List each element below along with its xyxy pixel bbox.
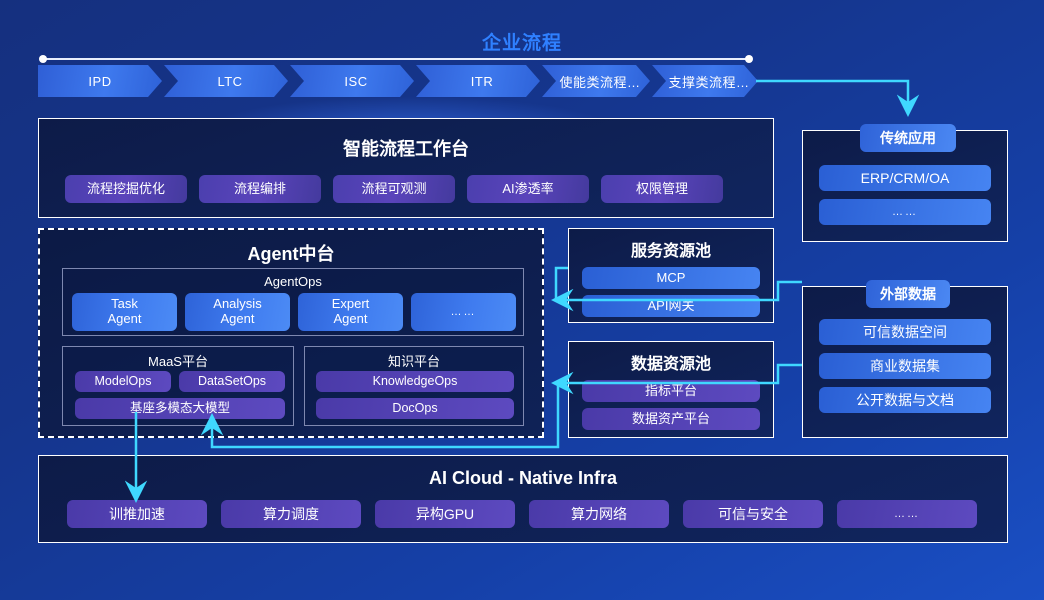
external-data-item[interactable]: 公开数据与文档	[819, 387, 991, 413]
data-pool-title: 数据资源池	[569, 350, 773, 374]
knowledge-row-1: KnowledgeOps	[316, 371, 514, 392]
workbench-item[interactable]: 流程挖掘优化	[65, 175, 187, 203]
rail-dot-left	[39, 55, 47, 63]
traditional-app-item-label: ERP/CRM/OA	[861, 170, 950, 186]
maas-item[interactable]: DataSetOps	[179, 371, 285, 392]
traditional-app-item[interactable]: ERP/CRM/OA	[819, 165, 991, 191]
data-pool-item-label: 指标平台	[645, 384, 697, 399]
infra-item-label: 异构GPU	[416, 506, 474, 522]
service-pool-title: 服务资源池	[569, 237, 773, 261]
external-data-item-label: 商业数据集	[870, 358, 940, 374]
knowledge-title: 知识平台	[305, 351, 523, 370]
maas-title: MaaS平台	[63, 351, 293, 370]
workbench-item[interactable]: AI渗透率	[467, 175, 589, 203]
diagram-canvas: 企业流程 IPD LTC ISC ITR 使能类流程… 支撑类流程… 智能流程工…	[0, 0, 1044, 600]
agentops-title: AgentOps	[63, 274, 523, 289]
infra-title: AI Cloud - Native Infra	[39, 468, 1007, 489]
ai-cloud-native-infra-panel: AI Cloud - Native Infra 训推加速 算力调度 异构GPU …	[38, 455, 1008, 543]
infra-items: 训推加速 算力调度 异构GPU 算力网络 可信与安全 ……	[67, 500, 977, 528]
knowledge-item[interactable]: KnowledgeOps	[316, 371, 514, 392]
data-pool-item-label: 数据资产平台	[632, 412, 710, 427]
wire-service-pool-stub	[556, 268, 568, 300]
process-step[interactable]: ITR	[416, 65, 540, 97]
agent-card-more[interactable]: ……	[411, 293, 516, 331]
workbench-items: 流程挖掘优化 流程编排 流程可观测 AI渗透率 权限管理	[65, 175, 723, 203]
external-data-label: 外部数据	[866, 280, 950, 308]
process-step-label: ISC	[344, 74, 367, 89]
infra-item-label: 算力调度	[263, 506, 319, 522]
knowledge-row-2: DocOps	[316, 398, 514, 419]
infra-item-more-label: ……	[894, 508, 920, 521]
workbench-item-label: 流程挖掘优化	[87, 182, 165, 197]
service-pool-item[interactable]: API网关	[582, 295, 760, 317]
external-data-item[interactable]: 可信数据空间	[819, 319, 991, 345]
traditional-apps-label: 传统应用	[860, 124, 956, 152]
agent-card[interactable]: Analysis Agent	[185, 293, 290, 331]
infra-item[interactable]: 算力网络	[529, 500, 669, 528]
service-pool-item-label: MCP	[657, 271, 686, 286]
knowledge-platform-group: 知识平台 KnowledgeOps DocOps	[304, 346, 524, 426]
maas-item-label: DataSetOps	[198, 374, 266, 388]
intelligent-process-workbench-panel: 智能流程工作台 流程挖掘优化 流程编排 流程可观测 AI渗透率 权限管理	[38, 118, 774, 218]
external-data-item-label: 可信数据空间	[863, 324, 947, 340]
maas-row-2: 基座多模态大模型	[75, 398, 285, 419]
infra-item[interactable]: 训推加速	[67, 500, 207, 528]
data-resource-pool-panel: 数据资源池 指标平台 数据资产平台	[568, 341, 774, 438]
infra-item-label: 可信与安全	[718, 506, 788, 522]
agent-card-label: Expert Agent	[332, 297, 370, 327]
workbench-item-label: AI渗透率	[502, 182, 553, 197]
infra-item[interactable]: 异构GPU	[375, 500, 515, 528]
process-step[interactable]: IPD	[38, 65, 162, 97]
traditional-app-item-more[interactable]: ……	[819, 199, 991, 225]
page-title: 企业流程	[0, 28, 1044, 55]
maas-item-label: 基座多模态大模型	[130, 401, 230, 415]
agent-card-label: Task Agent	[108, 297, 142, 327]
infra-item-more[interactable]: ……	[837, 500, 977, 528]
workbench-item-label: 流程可观测	[361, 182, 426, 197]
knowledge-item-label: KnowledgeOps	[373, 374, 458, 388]
agent-platform-panel: Agent中台 AgentOps Task Agent Analysis Age…	[38, 228, 544, 438]
data-pool-item[interactable]: 指标平台	[582, 380, 760, 402]
process-step[interactable]: LTC	[164, 65, 288, 97]
external-data-item-label: 公开数据与文档	[856, 392, 954, 408]
knowledge-item-label: DocOps	[392, 401, 437, 415]
agent-card[interactable]: Expert Agent	[298, 293, 403, 331]
workbench-title: 智能流程工作台	[39, 135, 773, 161]
process-step[interactable]: 支撑类流程…	[652, 65, 758, 97]
process-step-label: ITR	[471, 74, 493, 89]
wire-process-to-traditional	[756, 81, 908, 112]
service-resource-pool-panel: 服务资源池 MCP API网关	[568, 228, 774, 323]
service-pool-item[interactable]: MCP	[582, 267, 760, 289]
maas-platform-group: MaaS平台 ModelOps DataSetOps 基座多模态大模型	[62, 346, 294, 426]
infra-item-label: 算力网络	[571, 506, 627, 522]
process-rail	[40, 58, 752, 60]
infra-item-label: 训推加速	[109, 506, 165, 522]
rail-dot-right	[745, 55, 753, 63]
process-chevron-bar: IPD LTC ISC ITR 使能类流程… 支撑类流程…	[38, 65, 758, 97]
maas-item[interactable]: 基座多模态大模型	[75, 398, 285, 419]
workbench-item[interactable]: 流程编排	[199, 175, 321, 203]
infra-item[interactable]: 算力调度	[221, 500, 361, 528]
process-step-label: 使能类流程…	[559, 72, 640, 91]
process-step[interactable]: ISC	[290, 65, 414, 97]
agentops-items: Task Agent Analysis Agent Expert Agent ……	[72, 293, 516, 331]
agent-card-label: Analysis Agent	[213, 297, 261, 327]
process-step[interactable]: 使能类流程…	[542, 65, 650, 97]
maas-item[interactable]: ModelOps	[75, 371, 171, 392]
external-data-panel: 可信数据空间 商业数据集 公开数据与文档	[802, 286, 1008, 438]
workbench-item[interactable]: 权限管理	[601, 175, 723, 203]
workbench-item-label: 流程编排	[234, 182, 286, 197]
data-pool-item[interactable]: 数据资产平台	[582, 408, 760, 430]
workbench-item[interactable]: 流程可观测	[333, 175, 455, 203]
agent-platform-title: Agent中台	[40, 240, 542, 266]
process-step-label: IPD	[88, 74, 111, 89]
external-data-item[interactable]: 商业数据集	[819, 353, 991, 379]
agentops-group: AgentOps Task Agent Analysis Agent Exper…	[62, 268, 524, 336]
process-step-label: 支撑类流程…	[668, 72, 749, 91]
workbench-item-label: 权限管理	[636, 182, 688, 197]
process-step-label: LTC	[217, 74, 242, 89]
traditional-app-item-more-label: ……	[892, 206, 918, 219]
agent-card-more-label: ……	[451, 306, 477, 319]
maas-row-1: ModelOps DataSetOps	[75, 371, 285, 392]
service-pool-item-label: API网关	[648, 299, 695, 314]
maas-item-label: ModelOps	[95, 374, 152, 388]
infra-item[interactable]: 可信与安全	[683, 500, 823, 528]
agent-card[interactable]: Task Agent	[72, 293, 177, 331]
knowledge-item[interactable]: DocOps	[316, 398, 514, 419]
